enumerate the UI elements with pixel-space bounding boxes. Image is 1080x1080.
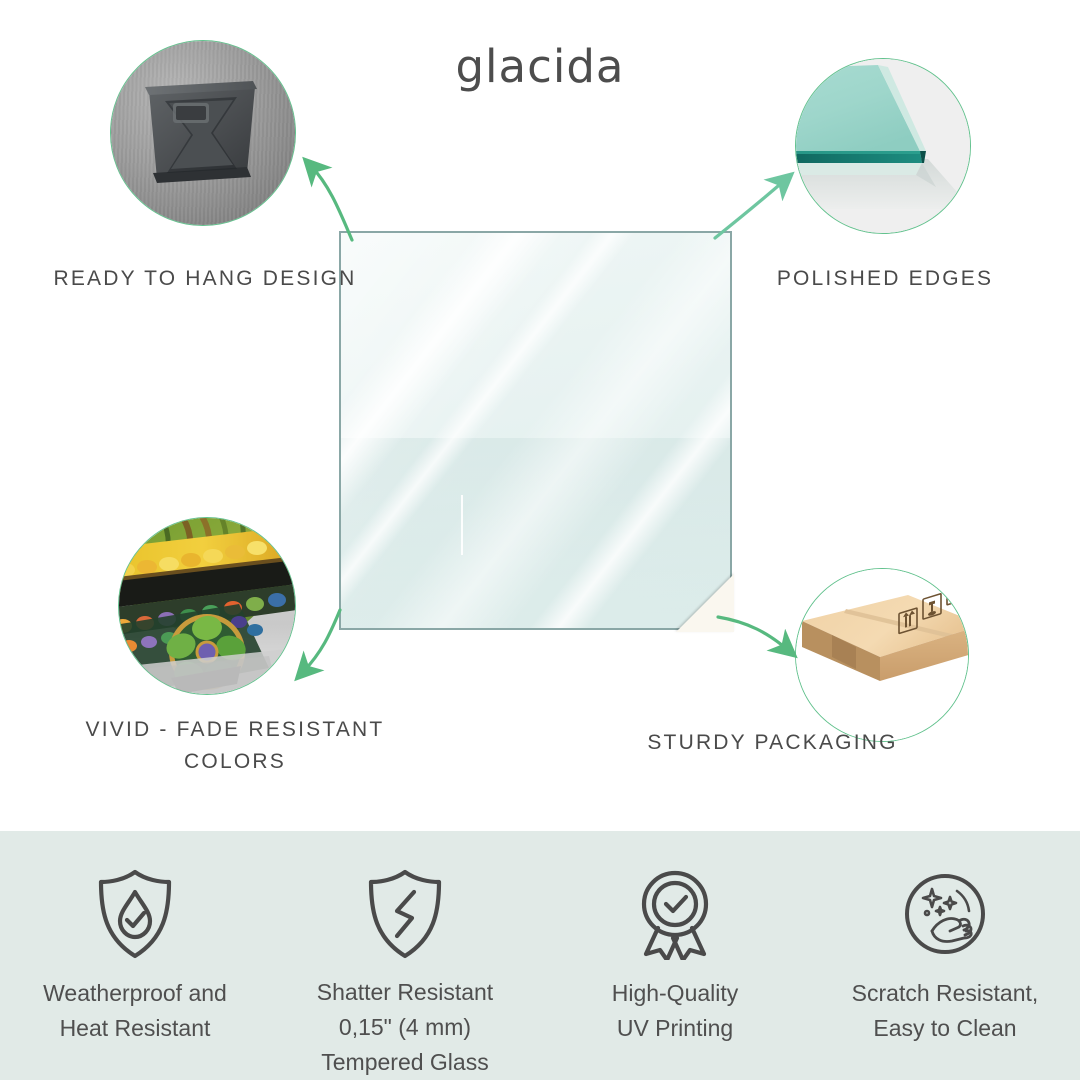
feature-label: Weatherproof and Heat Resistant bbox=[43, 976, 227, 1046]
product-glass-panel bbox=[339, 231, 732, 630]
callout-label-polished-edges: POLISHED EDGES bbox=[740, 263, 1030, 295]
feature-uv-printing: High-Quality UV Printing bbox=[540, 831, 810, 1080]
bracket-shape-icon bbox=[143, 77, 261, 189]
stained-glass-shape-icon bbox=[119, 518, 296, 695]
arrow-to-ready-to-hang bbox=[311, 166, 352, 240]
shield-bolt-icon bbox=[362, 866, 448, 961]
feature-weatherproof: Weatherproof and Heat Resistant bbox=[0, 831, 270, 1080]
infographic-stage: glacida bbox=[0, 0, 1080, 1080]
feature-label: Scratch Resistant, Easy to Clean bbox=[852, 976, 1039, 1046]
cardboard-box-shape-icon bbox=[796, 569, 969, 742]
hanging-bracket-photo bbox=[111, 41, 295, 225]
callout-circle-vivid-colors bbox=[118, 517, 296, 695]
award-ribbon-check-icon bbox=[630, 866, 720, 962]
callout-circle-polished-edges bbox=[795, 58, 971, 234]
callout-label-sturdy-packaging: STURDY PACKAGING bbox=[645, 727, 900, 759]
feature-scratch-resistant: Scratch Resistant, Easy to Clean bbox=[810, 831, 1080, 1080]
callout-circle-ready-to-hang bbox=[110, 40, 296, 226]
sparkle-hand-clean-icon bbox=[902, 866, 988, 962]
glass-reflection-line bbox=[461, 495, 463, 555]
shield-droplet-check-icon bbox=[92, 866, 178, 962]
arrow-to-vivid-colors bbox=[303, 610, 340, 672]
feature-shatter-resistant: Shatter Resistant 0,15" (4 mm) Tempered … bbox=[270, 831, 540, 1080]
cardboard-box-photo bbox=[796, 569, 968, 741]
glass-edge-photo bbox=[796, 59, 970, 233]
callout-label-ready-to-hang: READY TO HANG DESIGN bbox=[40, 263, 370, 295]
feature-bar: Weatherproof and Heat Resistant Shatter … bbox=[0, 831, 1080, 1080]
polished-edge-shape-icon bbox=[796, 59, 971, 234]
callout-label-vivid-colors: VIVID - FADE RESISTANT COLORS bbox=[40, 714, 430, 778]
peeled-corner-icon bbox=[676, 574, 734, 632]
feature-label: Shatter Resistant 0,15" (4 mm) Tempered … bbox=[317, 975, 493, 1080]
feature-label: High-Quality UV Printing bbox=[612, 976, 739, 1046]
stained-glass-art-photo bbox=[119, 518, 295, 694]
glass-surface bbox=[339, 231, 732, 630]
arrow-to-polished-edges bbox=[715, 180, 785, 238]
callout-circle-sturdy-packaging bbox=[795, 568, 969, 742]
